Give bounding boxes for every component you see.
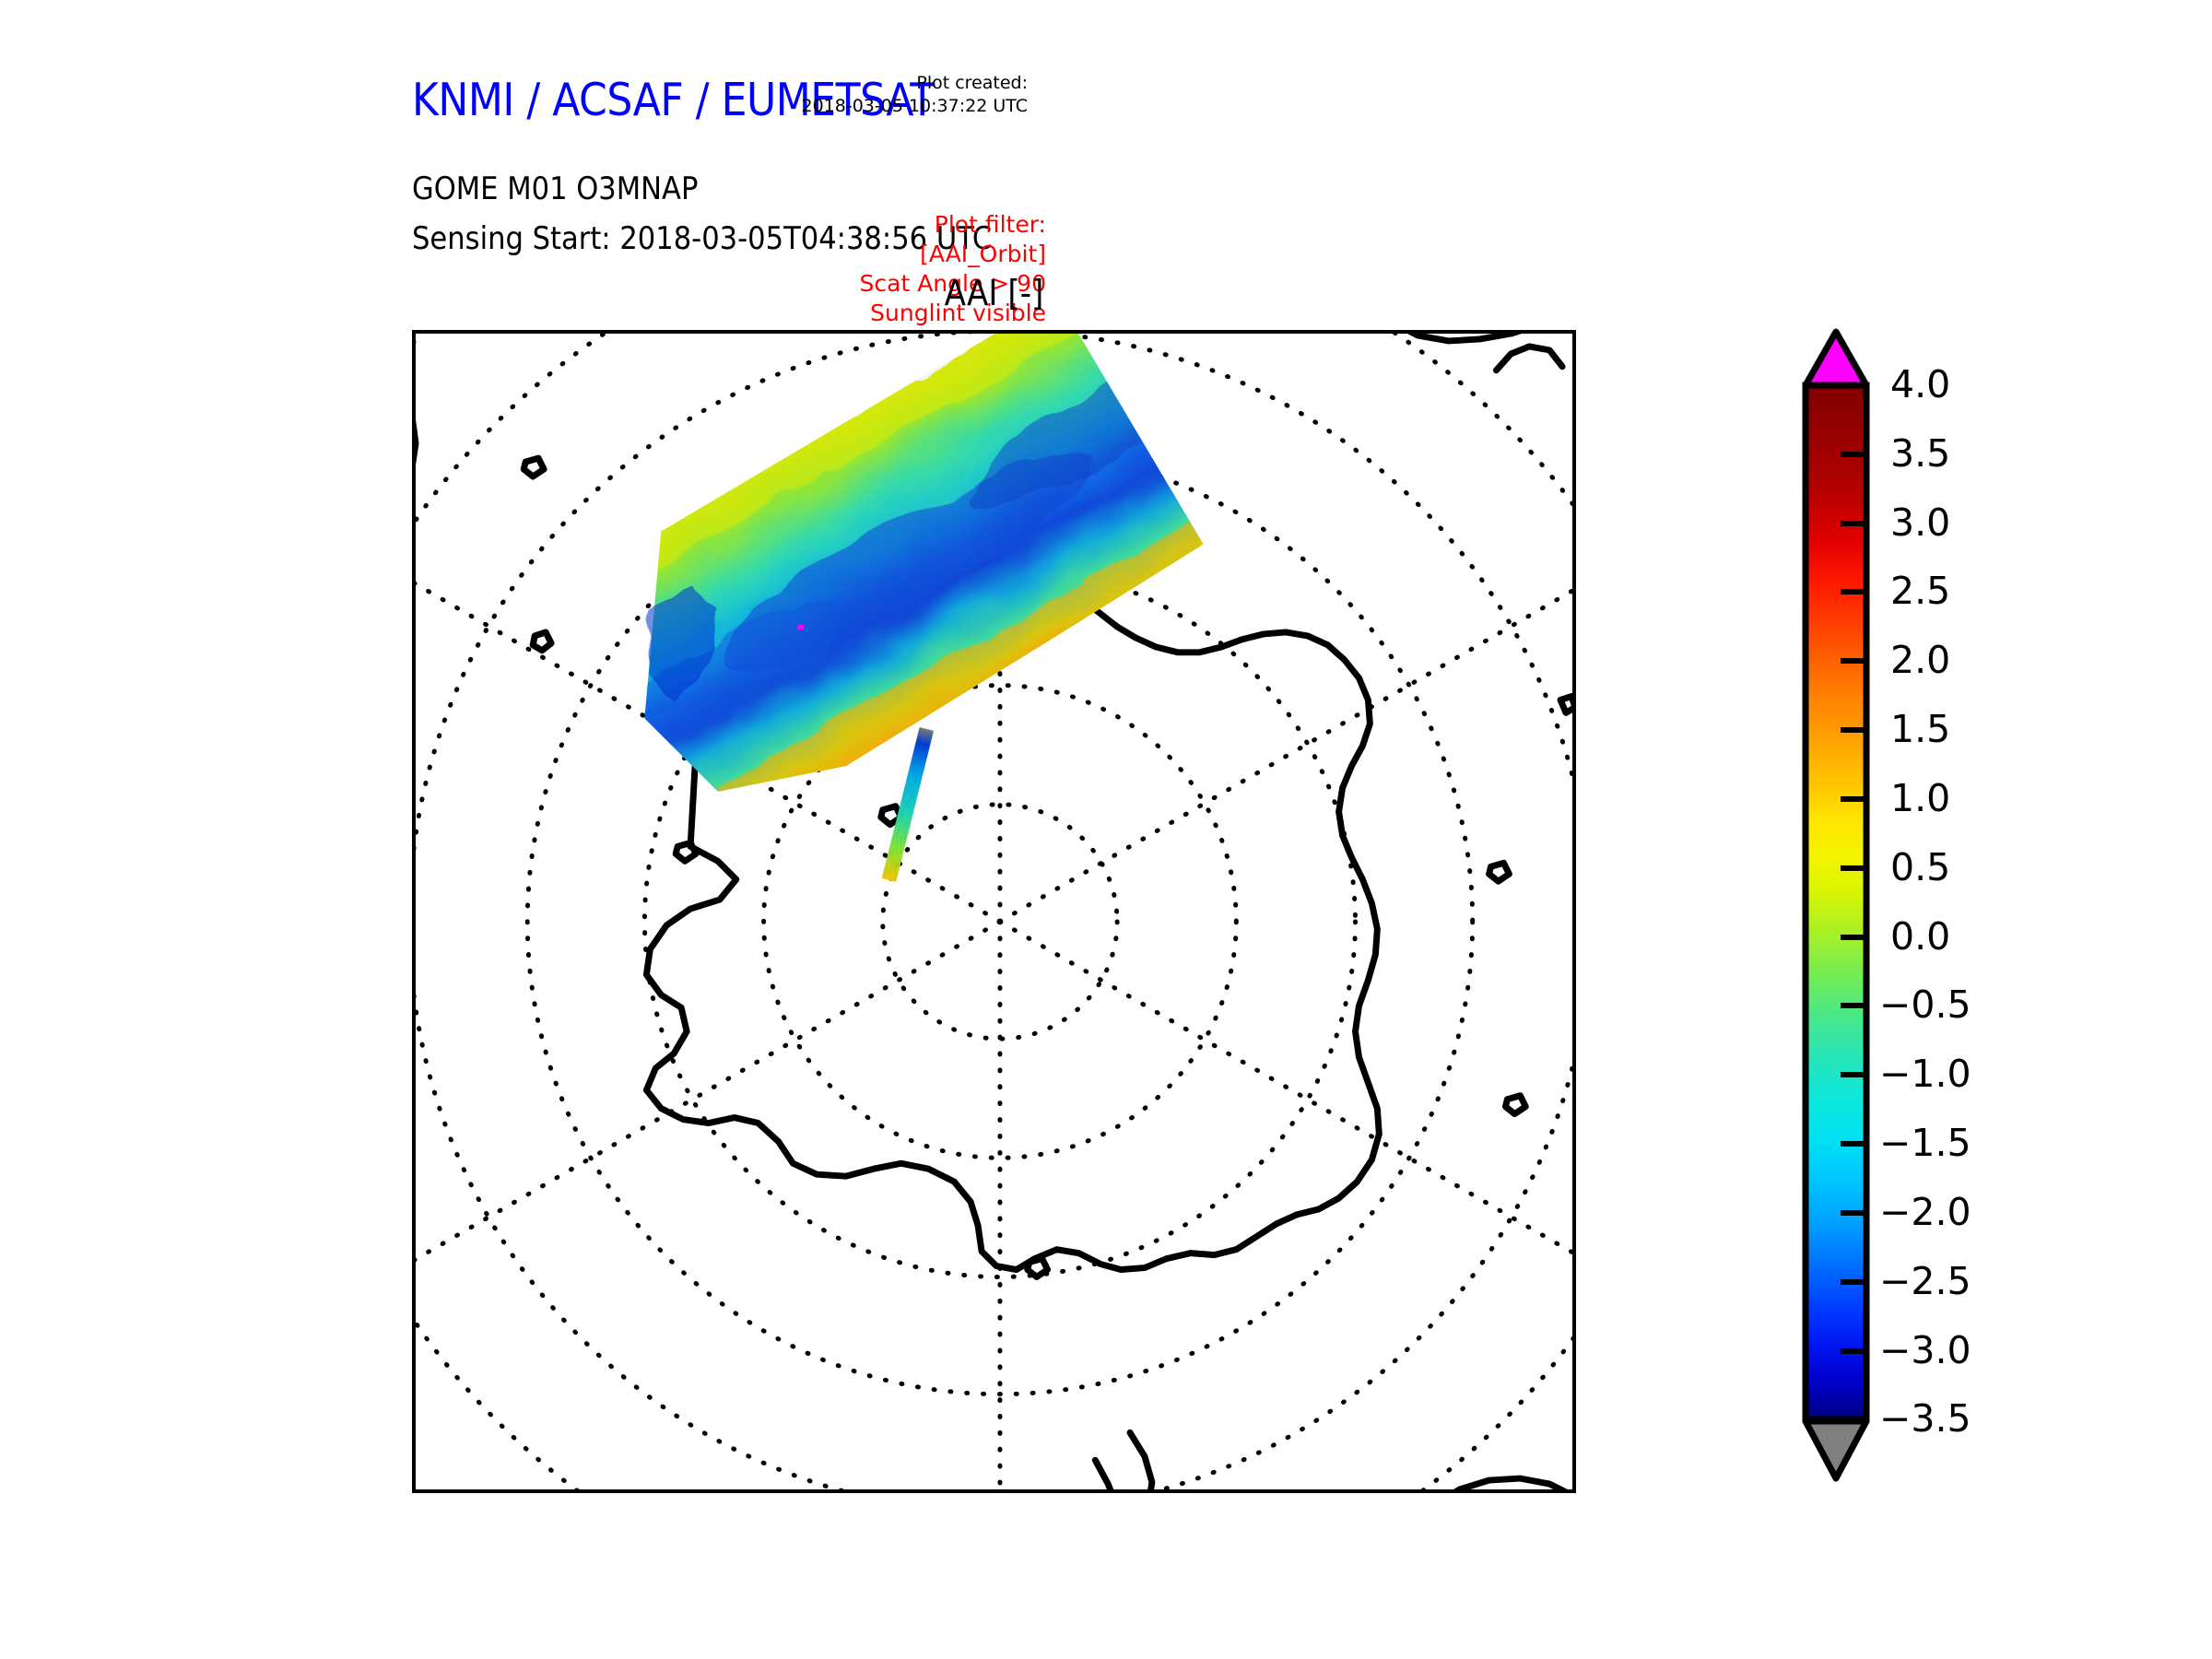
product-name: GOME M01 O3MNAP xyxy=(412,171,698,207)
swath-tail xyxy=(882,727,934,882)
plot-created-block: Plot created: 2018-03-05 10:37:22 UTC xyxy=(802,72,1029,118)
colorbar-tick-label: 1.0 xyxy=(1890,780,1950,818)
colorbar: 4.0 3.5 3.0 2.5 2.0 1.5 1.0 0.5 0.0 −0.5… xyxy=(1802,328,2189,1489)
colorbar-gradient xyxy=(1806,385,1866,1419)
satellite-swath xyxy=(496,334,1572,882)
colorbar-tick-label: 3.0 xyxy=(1890,504,1950,542)
map-plot-area xyxy=(412,330,1576,1493)
plot-filter-orbit: [AAI_Orbit] xyxy=(860,240,1046,269)
colorbar-tick-label: −1.5 xyxy=(1879,1124,1971,1162)
colorbar-tick-label: 4.0 xyxy=(1890,366,1950,404)
colorbar-tick-label: −3.5 xyxy=(1879,1400,1971,1438)
over-range-pixel xyxy=(797,625,804,629)
polar-stereographic-map xyxy=(416,334,1572,1489)
plot-created-label: Plot created: xyxy=(802,72,1029,95)
colorbar-over-range-arrow xyxy=(1806,332,1866,385)
colorbar-tick-label: 0.5 xyxy=(1890,849,1950,887)
colorbar-tick-label: 2.5 xyxy=(1890,572,1950,610)
plot-created-timestamp: 2018-03-05 10:37:22 UTC xyxy=(802,95,1029,118)
colorbar-tick-label: −2.5 xyxy=(1879,1263,1971,1300)
colorbar-tick-label: 0.0 xyxy=(1890,918,1950,956)
colorbar-tick-label: −3.0 xyxy=(1879,1332,1971,1370)
colorbar-tick-label: 1.5 xyxy=(1890,711,1950,748)
plot-filter-title: Plot filter: xyxy=(860,210,1046,240)
colorbar-under-range-arrow xyxy=(1806,1421,1866,1478)
map-title: AAI [-] xyxy=(0,273,1988,313)
colorbar-tick-label: −0.5 xyxy=(1879,986,1971,1024)
colorbar-svg xyxy=(1802,328,2189,1489)
colorbar-tick-label: 3.5 xyxy=(1890,435,1950,473)
colorbar-tick-label: 2.0 xyxy=(1890,641,1950,679)
colorbar-tick-label: −2.0 xyxy=(1879,1194,1971,1231)
colorbar-tick-label: −1.0 xyxy=(1879,1055,1971,1093)
